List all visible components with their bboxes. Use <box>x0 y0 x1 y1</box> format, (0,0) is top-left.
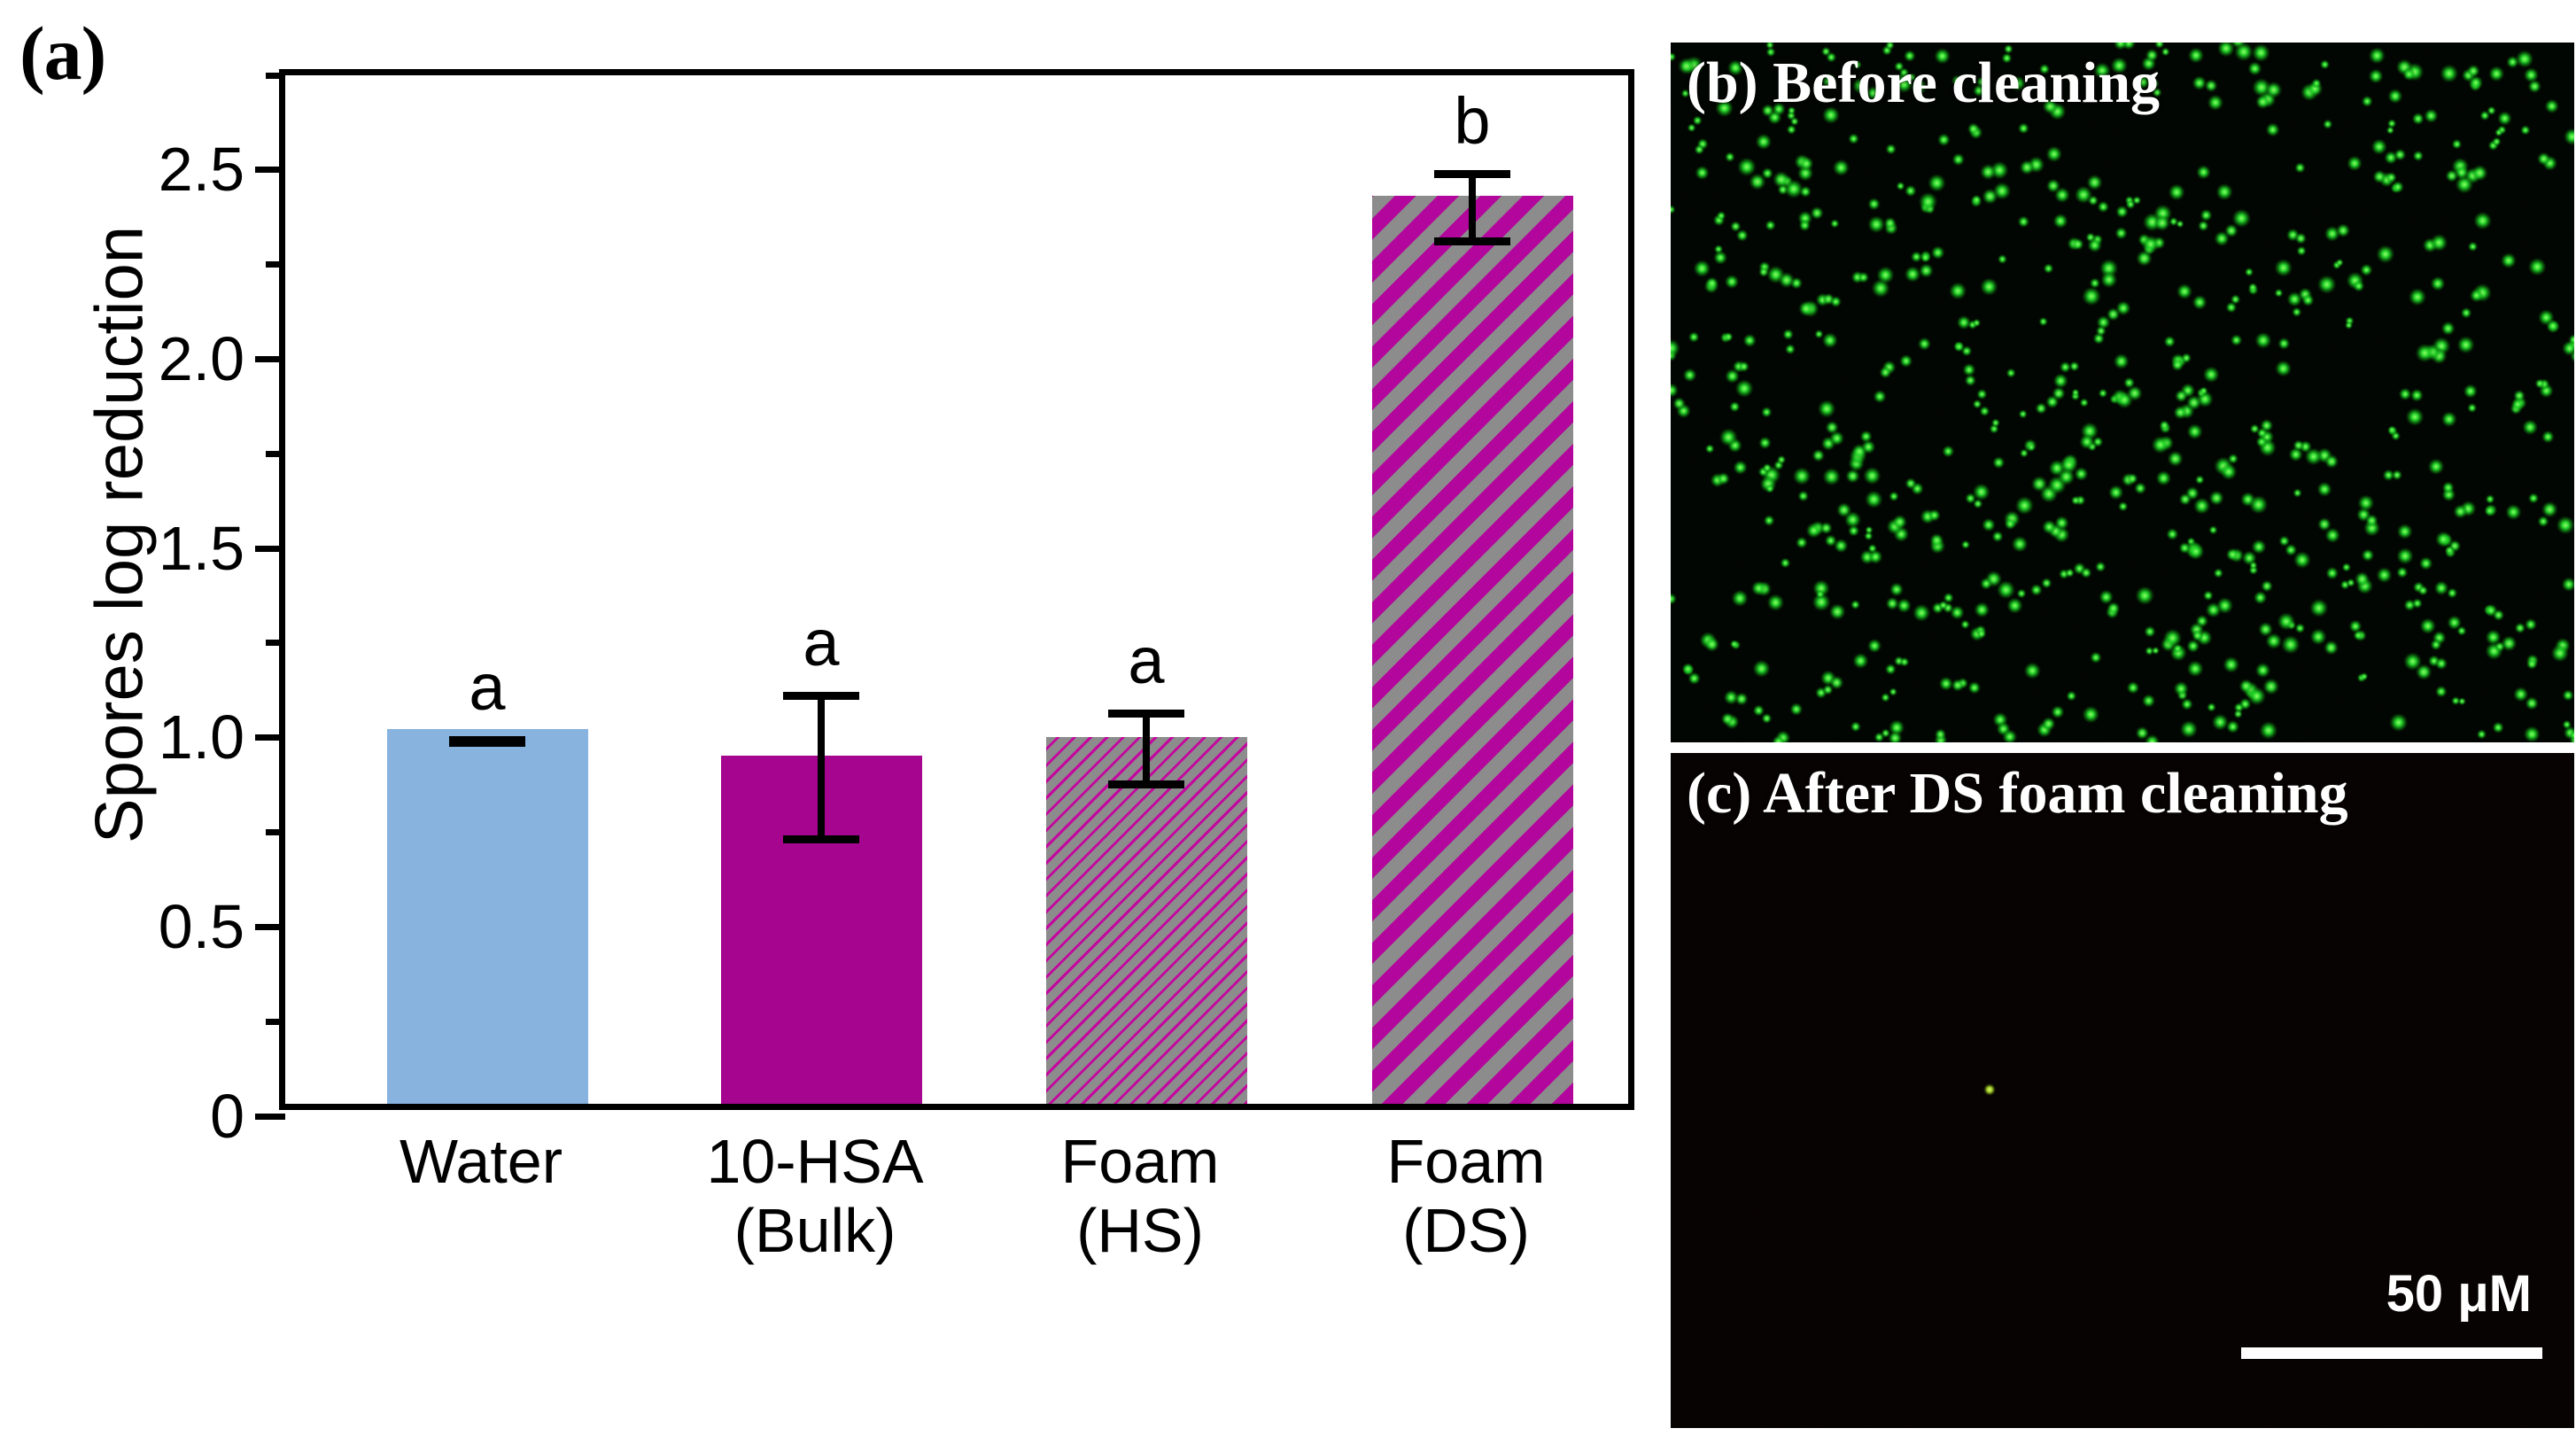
panel-c-caption: (c) After DS foam cleaning <box>1687 760 2348 827</box>
error-bar-cap-bottom <box>783 835 859 843</box>
panel-c-micrograph-after: (c) After DS foam cleaning 50 μM <box>1671 753 2574 1428</box>
x-tick-label-line: 10-HSA <box>706 1127 923 1196</box>
scalebar-line <box>2241 1347 2542 1359</box>
y-tick-label: 0 <box>210 1081 244 1152</box>
y-tick-mark <box>255 1114 285 1120</box>
y-tick-label: 1.5 <box>159 513 244 584</box>
bar <box>1046 737 1247 1104</box>
significance-letter: a <box>469 655 505 720</box>
y-tick-label: 2.0 <box>159 323 244 394</box>
y-axis-title: Spores log reduction <box>81 225 159 845</box>
x-tick-label: 10-HSA(Bulk) <box>706 1127 923 1266</box>
y-tick-minor <box>266 1019 285 1025</box>
error-bar <box>721 692 922 843</box>
error-bar-stem <box>1469 170 1476 245</box>
panel-a-label: (a) <box>19 9 105 97</box>
bar <box>387 729 588 1104</box>
x-tick-label: Water <box>400 1127 563 1196</box>
x-tick-label: Foam(HS) <box>1061 1127 1220 1266</box>
error-bar <box>1372 170 1573 245</box>
panel-b-caption: (b) Before cleaning <box>1687 50 2160 117</box>
x-tick-label-line: Foam <box>1061 1127 1220 1196</box>
x-tick-label: Foam(DS) <box>1387 1127 1546 1266</box>
scalebar-label: 50 μM <box>2386 1264 2532 1323</box>
error-bar-cap-top <box>1108 710 1184 718</box>
error-bar-cap-bottom <box>449 739 525 747</box>
fluorescence-image-after <box>1671 753 2574 1428</box>
y-tick-label: 0.5 <box>159 891 244 962</box>
significance-letter: b <box>1454 89 1490 154</box>
y-tick-label: 1.0 <box>159 702 244 772</box>
y-tick-minor <box>266 829 285 835</box>
y-tick-minor <box>266 73 285 79</box>
x-tick-label-line: Water <box>400 1127 563 1196</box>
significance-letter: a <box>803 610 839 676</box>
y-tick-mark <box>255 734 285 741</box>
error-bar-cap-top <box>1434 170 1510 178</box>
y-tick-minor <box>266 451 285 457</box>
y-tick-minor <box>266 261 285 268</box>
y-tick-mark <box>255 356 285 362</box>
fluorescence-image-before <box>1671 43 2574 742</box>
x-tick-label-line: Foam <box>1387 1127 1546 1196</box>
x-tick-label-line: (HS) <box>1061 1196 1220 1265</box>
error-bar <box>387 736 588 748</box>
y-tick-minor <box>266 640 285 646</box>
plot-frame: 00.51.01.52.02.5 aaab <box>279 69 1634 1110</box>
y-tick-mark <box>255 167 285 173</box>
panel-b-micrograph-before: (b) Before cleaning <box>1671 43 2574 742</box>
error-bar-stem <box>1143 710 1150 789</box>
y-tick-mark <box>255 546 285 552</box>
error-bar-cap-bottom <box>1108 780 1184 788</box>
error-bar <box>1046 710 1247 789</box>
x-tick-label-line: (Bulk) <box>706 1196 923 1265</box>
panel-a-bar-chart: (a) Spores log reduction 00.51.01.52.02.… <box>0 0 1665 1436</box>
significance-letter: a <box>1128 628 1164 694</box>
error-bar-stem <box>818 692 825 843</box>
error-bar-cap-top <box>783 692 859 700</box>
y-tick-mark <box>255 924 285 930</box>
x-tick-label-line: (DS) <box>1387 1196 1546 1265</box>
y-tick-label: 2.5 <box>159 134 244 205</box>
bar <box>1372 196 1573 1104</box>
error-bar-cap-bottom <box>1434 237 1510 245</box>
